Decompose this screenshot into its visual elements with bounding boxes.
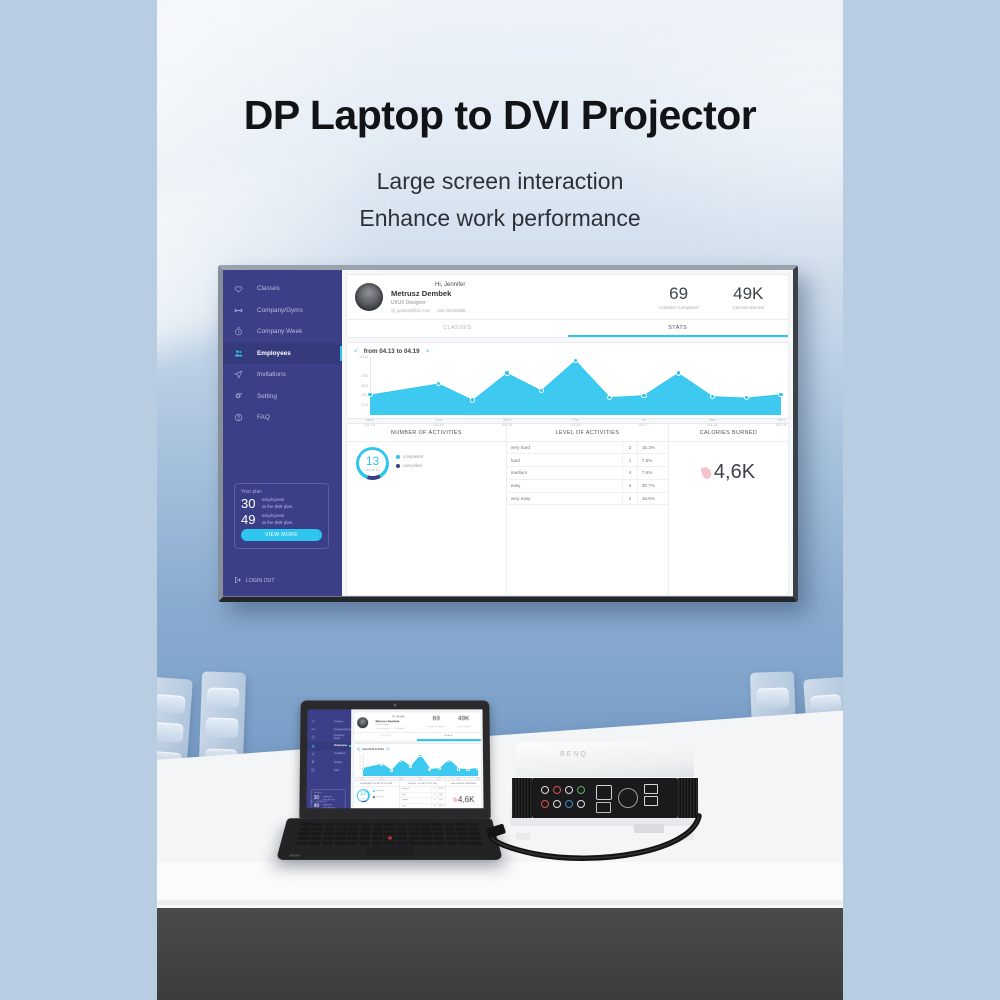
keyboard-key[interactable] [301,823,312,826]
plan-title: Your plan [241,489,322,495]
donut-section: 13 out of 14 completed [347,442,506,480]
wall-light-reflection-3 [583,30,843,290]
tab-classes[interactable]: CLASSES [347,320,568,337]
keyboard-key[interactable] [313,823,324,826]
stat-value: 49K [733,285,764,302]
keyboard-key[interactable] [433,832,444,835]
keyboard-key[interactable] [396,823,407,826]
keyboard-key[interactable] [372,841,383,845]
keyboard-key[interactable] [335,836,346,840]
webcam-icon [394,703,397,706]
plan-desc: employees at the $59 plan [262,513,292,525]
profile-stats: 69 Activities Completed 49K Calories Bur… [428,717,476,728]
panel-number-of-activities: NUMBER OF ACTIVITIES 13 out of 14 [347,424,507,596]
keyboard-key[interactable] [372,823,383,826]
legend-item-completed: completed [372,790,384,792]
stat-value: 69 [659,285,699,302]
sidebar-item-faq[interactable]: FAQ [307,766,351,774]
plan-title: Your plan [314,792,343,794]
keyboard-key[interactable] [372,832,383,835]
keyboard-key[interactable] [299,832,310,835]
dashboard-sidebar: Classes Company/Gyms Company Week [306,709,351,808]
laptop: Classes Company/Gyms Company Week [282,700,497,865]
chart-data-points [362,754,477,776]
sidebar-item-label: Invitations [334,752,345,755]
profile-card: Hi, Jennifer Metrusz Dembek UI/UX Design… [346,274,789,338]
chart-point [466,768,469,771]
legend-label: cancelled [403,463,422,468]
keyboard-key[interactable] [372,827,383,830]
keyboard-key[interactable] [372,836,383,840]
keyboard-key[interactable] [309,841,321,845]
stat-calories: 49K Calories Burned [733,285,764,310]
table-row: easy430.7% [507,479,668,492]
level-bar [413,803,432,808]
keyboard-key[interactable] [408,827,419,830]
calories-value: 4,6K [714,461,755,484]
chart-point [457,767,460,770]
question-icon [311,768,331,772]
keyboard-key[interactable] [434,841,445,845]
chart-point [409,765,412,768]
keyboard-key[interactable] [312,827,323,830]
y-tick-label: 400 [356,758,361,759]
keyboard-key[interactable] [360,823,371,826]
profile-phone: 021-80163988 [437,308,465,313]
plan-count: 49 [241,513,262,526]
dashboard-app: Classes Company/Gyms Company Week [223,270,793,596]
keyboard-key[interactable] [359,836,370,840]
keyboard-key[interactable] [348,832,359,835]
sidebar-item-label: FAQ [257,414,270,421]
chart-point [361,767,364,770]
keyboard-key[interactable] [298,836,310,840]
keyboard-key[interactable] [408,823,419,826]
legend-dot [372,790,374,792]
keyboard-key[interactable] [334,841,345,845]
laptop-lid: Classes Company/Gyms Company Week [299,701,490,819]
profile-role: UI/UX Designer [376,724,405,726]
chart-point [744,395,749,400]
legend-dot [396,455,400,459]
level-name: hard [507,454,555,467]
plan-count: 49 [313,804,322,808]
keyboard-key[interactable] [336,827,347,830]
level-name: easy [400,803,413,808]
sidebar-item-label: Employees [334,744,347,747]
clock-icon [311,736,331,740]
date-range-label: from 04.13 to 04.19 [362,748,384,751]
levels-table: very hard215.3%hard17.6%medium47.6%easy4… [400,787,445,808]
level-bar [555,492,623,505]
laptop-base: lenovo [276,818,503,860]
activity-chart-card: < from 04.13 to 04.19 > 1002003004001000… [346,342,789,419]
dumbbell-icon [311,727,330,731]
legend-label: cancelled [376,796,384,798]
projector-top: BENQ [516,742,694,778]
profile-name: Metrusz Dembek [376,719,405,723]
plan-desc: employees at the $59 plan [262,497,292,509]
level-name: medium [507,467,555,480]
keyboard-key[interactable] [384,832,395,835]
y-tick-label: 400 [354,373,368,378]
keyboard-row [299,832,481,835]
stat-label: Calories Burned [733,305,764,310]
sidebar-item-invitations[interactable]: Invitations [307,750,351,758]
sidebar-item-classes[interactable]: Classes [307,717,351,725]
view-more-button[interactable]: VIEW MORE [241,529,322,541]
keyboard-row [300,827,480,830]
projector-brand: BENQ [560,751,588,758]
stat-value: 49K [457,717,470,724]
keyboard-key[interactable] [458,836,469,840]
sidebar-item-employees[interactable]: Employees [223,343,342,365]
keyboard-key[interactable] [384,841,395,845]
sidebar-item-employees[interactable]: Employees [307,742,351,750]
keyboard-key[interactable] [409,836,420,840]
chart-data-points [370,357,781,415]
activity-area-chart: 1002003004001000 Mon04.13Tue04.14Wed04.1… [370,357,781,415]
calories-value-row: 4,6K [669,442,788,504]
dashboard-tabs: CLASSES STATS [347,319,788,337]
keyboard-key[interactable] [396,832,407,835]
y-tick-label: 300 [354,383,368,388]
level-bar [555,467,623,480]
chart-point [607,395,612,400]
chart-point [778,392,783,397]
keyboard-key[interactable] [384,827,395,830]
photo-scene: DP Laptop to DVI Projector Large screen … [157,0,843,1000]
keyboard-key[interactable] [360,832,371,835]
profile-header: Hi, Jennifer Metrusz Dembek UI/UX Design… [347,275,788,319]
date-range-selector: < from 04.13 to 04.19 > [354,348,781,355]
donut-section: 13 out of 14 completed [353,787,399,802]
profile-info: Hi, Jennifer Metrusz Dembek UI/UX Design… [391,282,466,313]
keyboard-key[interactable] [408,832,419,835]
stat-value: 69 [428,717,444,724]
plan-row: 49 employees at the $59 plan [313,804,342,808]
sidebar-item-label: Setting [334,761,342,764]
tab-stats[interactable]: STATS [568,320,789,337]
keyboard-key[interactable] [396,841,407,845]
profile-header: Hi, Jennifer Metrusz Dembek UI/UX Design… [354,712,481,732]
flame-icon [700,465,712,479]
stat-activities: 69 Activities Completed [659,285,699,310]
sidebar-item-label: Company/Gyms [333,728,351,731]
profile-contact: @ gurianli@biz.com 021-80163988 [376,728,405,730]
level-count: 2 [623,442,638,454]
keyboard-key[interactable] [420,832,431,835]
chart-point [380,763,383,766]
chart-point [399,759,402,762]
keyboard-key[interactable] [444,827,455,830]
greeting: Hi, Jennifer [393,715,405,718]
profile-card: Hi, Jennifer Metrusz Dembek UI/UX Design… [353,711,482,742]
tv-screen: Classes Company/Gyms Company Week [223,270,793,596]
logout-button[interactable]: LOGIN OUT [234,576,275,586]
legend-item-completed: completed [396,454,423,459]
keyboard-key[interactable] [322,836,333,840]
level-count: 4 [623,467,638,480]
sidebar-item-company-gyms[interactable]: Company/Gyms [223,300,342,322]
panel-calories-burned: CALORIES BURNED 4,6K [446,781,481,809]
table-row: very easy215.6% [507,492,668,505]
profile-stats: 69 Activities Completed 49K Calories Bur… [659,285,778,310]
sidebar-item-company-gyms[interactable]: Company/Gyms [307,725,351,733]
laptop-chin [306,810,483,817]
level-count: 1 [623,454,638,467]
sidebar-nav: Classes Company/Gyms Company Week [223,270,342,429]
heart-icon [311,719,331,723]
activity-chart-card: < from 04.13 to 04.19 > 1002003004001000… [352,743,481,778]
donut-value: 13 [356,792,369,797]
keyboard-key[interactable] [396,836,407,840]
keyboard-key[interactable] [337,823,348,826]
gear-icon [234,392,254,401]
keyboard-key[interactable] [433,836,444,840]
keyboard-key[interactable] [396,827,407,830]
keyboard-row [301,823,478,826]
keyboard-key[interactable] [432,823,443,826]
level-pct: 7.6% [637,454,668,467]
flame-icon [452,796,457,802]
keyboard-key[interactable] [445,832,456,835]
keyboard-key[interactable] [335,832,346,835]
keyboard-key[interactable] [420,823,431,826]
profile-email: @ gurianli@biz.com [376,728,391,730]
level-pct: 30.7% [437,803,446,808]
logout-label: LOGIN OUT [315,801,327,803]
chart-point [641,393,646,398]
headline-subtitle-2: Enhance work performance [157,205,843,232]
trackpoint-icon [387,836,391,839]
keyboard-key[interactable] [456,827,467,830]
level-name: easy [507,479,555,492]
keyboard-key[interactable] [421,841,432,845]
dumbbell-icon [234,306,254,315]
profile-name: Metrusz Dembek [391,289,466,298]
table-row: hard17.6% [507,454,668,467]
chart-point [470,397,475,402]
greeting: Hi, Jennifer [435,282,466,288]
level-bar [555,479,623,492]
laptop-brand: lenovo [289,854,300,857]
stat-label: Activities Completed [659,305,699,310]
y-tick-label: 300 [356,762,361,763]
table-row: easy430.7% [400,803,445,808]
level-bar [555,454,623,467]
question-icon [234,413,254,422]
level-name: very easy [507,492,555,505]
keyboard-key[interactable] [420,827,431,830]
sidebar-item-label: Classes [257,285,280,292]
profile-phone: 021-80163988 [394,728,405,730]
chart-point [676,370,681,375]
panel-level-of-activities: LEVEL OF ACTIVITIES very hard215.3%hard1… [400,781,446,809]
date-range-selector: < from 04.13 to 04.19 > [357,746,478,753]
keyboard-key[interactable] [457,832,468,835]
sidebar-item-label: Setting [257,393,277,400]
keyboard-key[interactable] [346,841,357,845]
chart-point [367,392,372,397]
sidebar-item-label: Company Week [334,735,351,741]
plan-count: 30 [241,497,262,510]
sidebar-item-company-week[interactable]: Company Week [307,733,351,741]
keyboard-key[interactable] [360,827,371,830]
sidebar-item-label: Invitations [257,371,286,378]
sidebar-nav: Classes Company/Gyms Company Week [307,709,351,774]
level-count: 2 [623,492,638,505]
keyboard-key[interactable] [421,836,432,840]
y-tick-label: 1000 [357,751,362,752]
dvi-cable [477,790,717,870]
sidebar-item-company-week[interactable]: Company Week [223,321,342,343]
level-pct: 15.3% [637,442,668,454]
logout-icon [234,576,246,586]
keyboard-key[interactable] [384,823,394,826]
keyboard-key[interactable] [409,841,420,845]
logout-label: LOGIN OUT [246,578,275,584]
sidebar-item-label: Company Week [257,328,302,335]
next-week-button[interactable]: > [386,746,390,753]
tab-classes[interactable]: CLASSES [354,733,417,740]
keyboard-key[interactable] [310,836,321,840]
y-tick-label: 200 [354,392,368,397]
dashboard-sidebar: Classes Company/Gyms Company Week [223,270,342,596]
legend-label: completed [403,454,423,459]
headline-subtitle-1: Large screen interaction [157,168,843,195]
plan-desc-line2: at the $59 plan [262,504,292,510]
keyboard-key[interactable] [348,827,359,830]
chart-point [390,769,393,772]
keyboard-key[interactable] [347,836,358,840]
donut-sub: out of 14 [356,468,389,472]
keyboard-key[interactable] [432,827,443,830]
product-marketing-image: DP Laptop to DVI Projector Large screen … [0,0,1000,1000]
plan-card: Your plan 30 employees at the $59 plan 4… [310,789,345,808]
keyboard-key[interactable] [324,827,335,830]
levels-table: very hard215.3%hard17.6%medium47.6%easy4… [507,442,668,506]
keyboard-key[interactable] [455,823,466,826]
keyboard-key[interactable] [311,832,322,835]
avatar [355,283,383,311]
table-row: medium47.6% [507,467,668,480]
legend-label: completed [376,790,384,792]
level-pct: 30.7% [637,479,668,492]
keyboard-key[interactable] [323,832,334,835]
donut-center-text: 13 out of 14 [356,792,369,800]
keyboard-key[interactable] [297,841,309,845]
sidebar-item-setting[interactable]: Setting [307,758,351,766]
legend-item-cancelled: cancelled [372,796,384,798]
keyboard-key[interactable] [446,841,457,845]
sidebar-item-classes[interactable]: Classes [223,278,342,300]
donut-center-text: 13 out of 14 [356,455,389,473]
sidebar-item-label: Company/Gyms [257,307,303,314]
headline-title: DP Laptop to DVI Projector [157,92,843,139]
chart-point [436,381,441,386]
keyboard-key[interactable] [322,841,333,845]
plan-desc: employees at the $59 plan [323,804,336,808]
tab-stats[interactable]: STATS [417,733,480,740]
level-bar [555,442,623,454]
stat-label: Activities Completed [428,726,444,728]
summary-panels: NUMBER OF ACTIVITIES 13 out of 14 [346,423,789,597]
wall-mounted-tv: Classes Company/Gyms Company Week [218,265,798,602]
panel-number-of-activities: NUMBER OF ACTIVITIES 13 out of 14 [353,781,400,809]
keyboard-key[interactable] [325,823,336,826]
logout-button[interactable]: LOGIN OUT [311,800,327,804]
summary-panels: NUMBER OF ACTIVITIES 13 out of 14 [352,780,482,809]
dashboard-main: Hi, Jennifer Metrusz Dembek UI/UX Design… [351,709,484,808]
laptop-dashboard-mirror: Classes Company/Gyms Company Week [306,709,483,808]
stat-activities: 69 Activities Completed [428,717,444,728]
avatar [357,717,368,728]
send-icon [311,752,331,756]
chart-point [710,394,715,399]
keyboard-key[interactable] [445,836,456,840]
heart-icon [234,284,254,293]
level-name: very hard [507,442,555,454]
chart-point [573,358,578,363]
chart-point [476,767,479,770]
chart-point [428,768,431,771]
sidebar-item-label: Employees [257,350,291,357]
keyboard-key[interactable] [443,823,454,826]
stat-calories: 49K Calories Burned [457,717,470,728]
panel-level-of-activities: LEVEL OF ACTIVITIES very hard215.3%hard1… [507,424,669,596]
chart-point [504,370,509,375]
keyboard-key[interactable] [300,827,311,830]
sidebar-item-setting[interactable]: Setting [223,386,342,408]
plan-row: 49 employees at the $59 plan [241,513,322,526]
laptop-trackpad[interactable] [365,847,413,856]
keyboard-key[interactable] [348,823,359,826]
plan-card: Your plan 30 employees at the $59 plan 4… [234,483,329,549]
donut-sub: out of 14 [356,799,369,800]
donut-value: 13 [356,455,389,467]
plan-row: 30 employees at the $59 plan [241,497,322,510]
profile-role: UI/UX Designer [391,300,466,306]
plan-desc-line2: at the $59 plan [323,807,336,808]
date-range-label: from 04.13 to 04.19 [364,348,420,355]
legend-dot [396,464,400,468]
legend-dot [372,796,374,798]
table-row: very hard215.3% [507,442,668,454]
sidebar-item-invitations[interactable]: Invitations [223,364,342,386]
keyboard-key[interactable] [359,841,370,845]
sidebar-item-label: Classes [334,720,343,723]
users-icon [234,349,254,358]
dashboard-tabs: CLASSES STATS [354,732,481,740]
keyboard-key[interactable] [458,841,470,845]
level-pct: 15.6% [637,492,668,505]
calories-value: 4,6K [458,795,475,804]
activity-area-chart: 1002003004001000 Mon04.13Tue04.14Wed04.1… [362,754,477,776]
y-tick-label: 1000 [354,354,368,359]
send-icon [234,370,254,379]
dashboard-main: Hi, Jennifer Metrusz Dembek UI/UX Design… [342,270,793,596]
donut-legend: completed cancelled [396,454,423,472]
gear-icon [311,760,331,764]
panel-title: NUMBER OF ACTIVITIES [347,424,506,442]
sidebar-item-faq[interactable]: FAQ [223,407,342,429]
next-week-button[interactable]: > [426,348,430,355]
panel-title: CALORIES BURNED [669,424,788,442]
profile-info: Hi, Jennifer Metrusz Dembek UI/UX Design… [376,715,405,730]
chart-point [438,767,441,770]
chart-point [539,388,544,393]
